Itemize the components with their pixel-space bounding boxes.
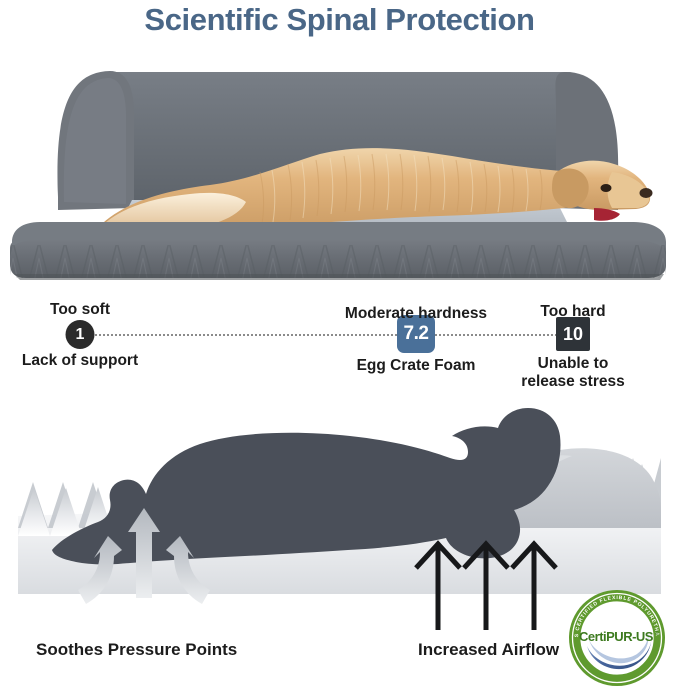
certipur-wordmark: CertiPUR-US	[579, 629, 654, 644]
scale-dotted-line	[80, 334, 580, 336]
label-increased-airflow: Increased Airflow	[418, 640, 559, 660]
scale-marker-top-label: Too hard	[540, 303, 605, 321]
scale-marker-bottom-label: Unable to release stress	[521, 355, 624, 392]
scale-marker-too-soft: Too soft 1 Lack of support	[66, 320, 95, 349]
dog-silhouette	[52, 408, 561, 564]
scale-marker-moderate: Moderate hardness 7.2 Egg Crate Foam	[397, 315, 435, 353]
certipur-trademark-icon: ®	[655, 630, 659, 637]
hardness-scale: Too soft 1 Lack of support Moderate hard…	[0, 292, 679, 397]
scale-marker-top-label: Too soft	[50, 301, 110, 319]
scale-marker-too-hard: Too hard 10 Unable to release stress	[556, 317, 590, 351]
airflow-arrows	[416, 544, 556, 630]
scale-marker-bottom-label: Lack of support	[22, 352, 138, 370]
scale-badge-value: 10	[556, 317, 590, 351]
scale-marker-bottom-label: Egg Crate Foam	[357, 357, 476, 375]
label-soothes-pressure-points: Soothes Pressure Points	[36, 640, 237, 660]
scale-marker-top-label: Moderate hardness	[345, 305, 487, 323]
scale-marker-bottom-label-line1: Unable to	[521, 355, 624, 373]
scale-badge-value: 1	[66, 320, 95, 349]
page-title: Scientific Spinal Protection	[0, 2, 679, 38]
infographic-page: Scientific Spinal Protection	[0, 0, 679, 689]
product-photo	[0, 52, 679, 284]
scale-marker-bottom-label-line2: release stress	[521, 373, 624, 391]
certipur-us-badge: CONTAINS CERTIFIED FLEXIBLE POLYURETHANE…	[567, 588, 667, 688]
